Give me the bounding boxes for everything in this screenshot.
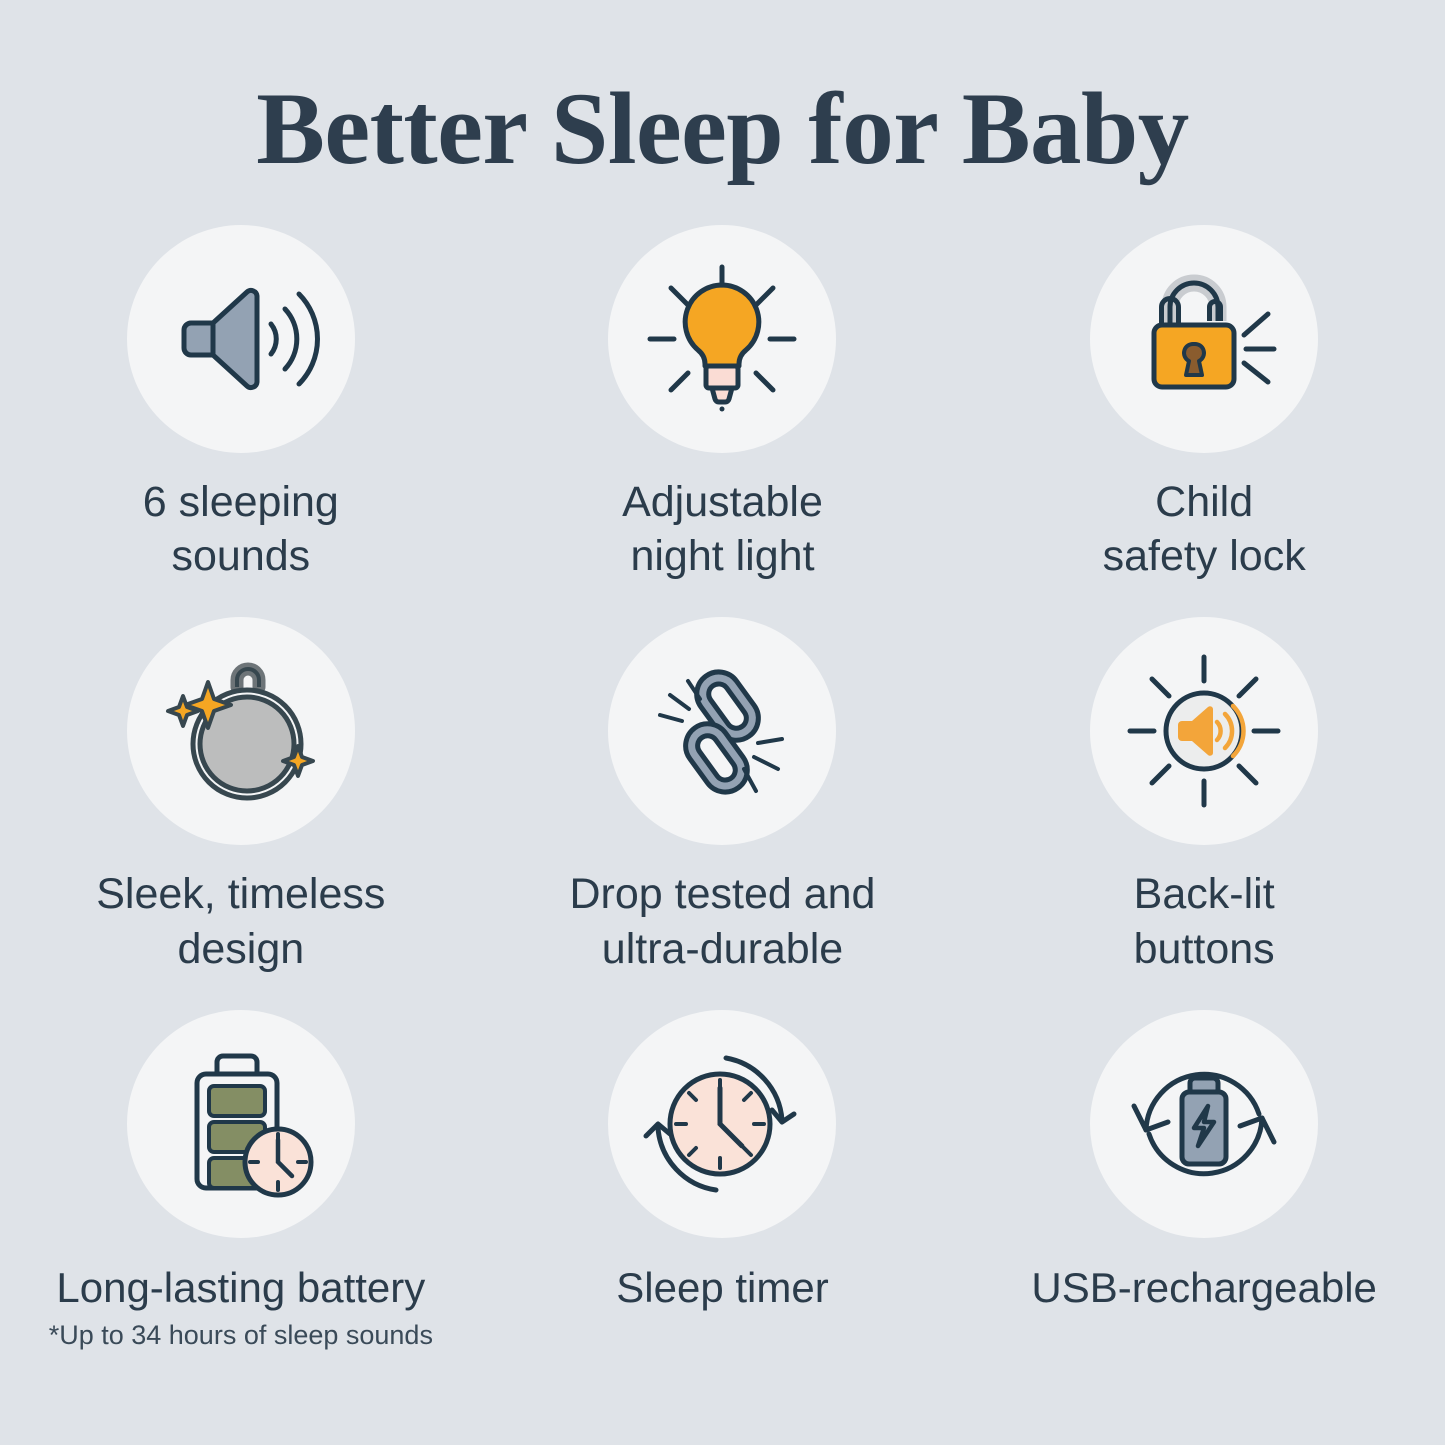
feature-label: USB-rechargeable xyxy=(1031,1262,1377,1315)
backlit-speaker-button-icon xyxy=(1124,651,1284,811)
feature-card-long-battery: Long-lasting battery *Up to 34 hours of … xyxy=(0,1010,482,1351)
speaker-waves-icon xyxy=(161,259,321,419)
clock-arrows-icon xyxy=(642,1044,802,1204)
icon-disc xyxy=(1090,1010,1318,1238)
page-title: Better Sleep for Baby xyxy=(0,0,1445,181)
feature-card-night-light: Adjustable night light xyxy=(482,225,964,583)
feature-card-usb-rechargeable: USB-rechargeable xyxy=(963,1010,1445,1351)
feature-label: Adjustable night light xyxy=(622,475,823,583)
infographic-page: Better Sleep for Baby 6 sleeping sounds xyxy=(0,0,1445,1445)
icon-disc xyxy=(608,1010,836,1238)
icon-disc xyxy=(127,1010,355,1238)
feature-label: Back-lit buttons xyxy=(1134,867,1275,975)
feature-note: *Up to 34 hours of sleep sounds xyxy=(49,1319,433,1351)
feature-label: Sleek, timeless design xyxy=(96,867,385,975)
feature-label: Long-lasting battery xyxy=(56,1262,425,1315)
feature-label: 6 sleeping sounds xyxy=(143,475,339,583)
feature-card-drop-tested: Drop tested and ultra-durable xyxy=(482,617,964,975)
open-padlock-icon xyxy=(1124,259,1284,419)
chain-link-icon xyxy=(642,651,802,811)
feature-label: Child safety lock xyxy=(1103,475,1306,583)
feature-label: Sleep timer xyxy=(616,1262,828,1315)
icon-disc xyxy=(608,225,836,453)
feature-label: Drop tested and ultra-durable xyxy=(570,867,876,975)
feature-card-sleeping-sounds: 6 sleeping sounds xyxy=(0,225,482,583)
feature-card-safety-lock: Child safety lock xyxy=(963,225,1445,583)
feature-card-backlit-buttons: Back-lit buttons xyxy=(963,617,1445,975)
battery-recharge-icon xyxy=(1124,1044,1284,1204)
icon-disc xyxy=(127,617,355,845)
sparkling-device-icon xyxy=(161,651,321,811)
icon-disc xyxy=(1090,225,1318,453)
light-bulb-icon xyxy=(642,259,802,419)
feature-card-sleek-design: Sleek, timeless design xyxy=(0,617,482,975)
feature-card-sleep-timer: Sleep timer xyxy=(482,1010,964,1351)
icon-disc xyxy=(608,617,836,845)
feature-grid: 6 sleeping sounds xyxy=(0,225,1445,1351)
icon-disc xyxy=(127,225,355,453)
battery-clock-icon xyxy=(161,1044,321,1204)
icon-disc xyxy=(1090,617,1318,845)
